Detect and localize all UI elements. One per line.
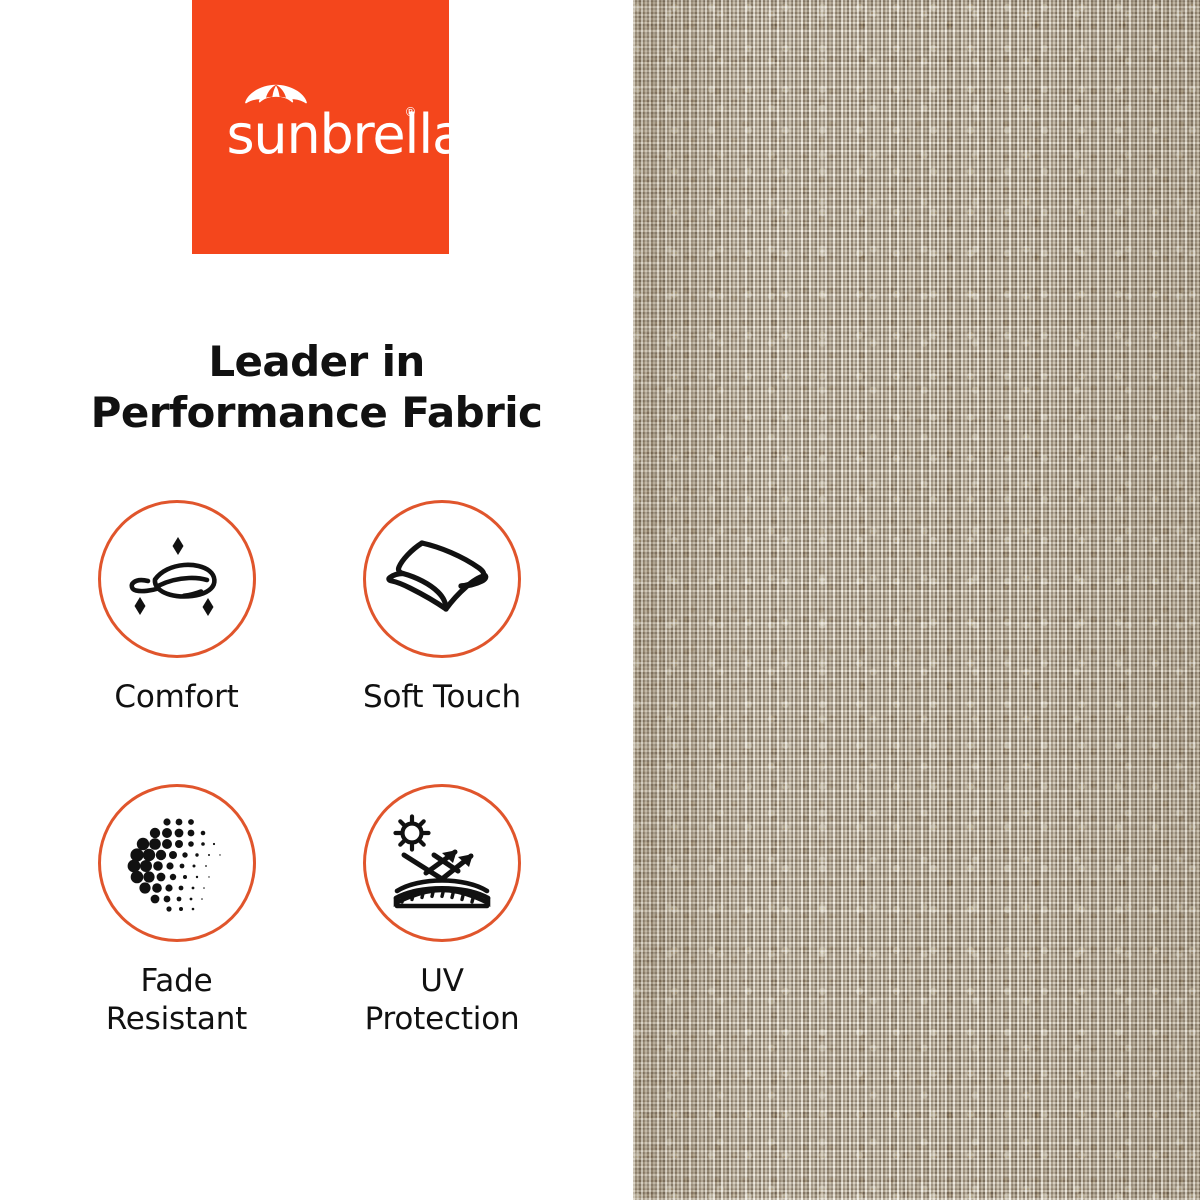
row-spacer — [60, 716, 633, 784]
halftone-dots-icon — [125, 811, 229, 915]
page-title: Leader in Performance Fabric — [0, 336, 633, 438]
info-panel: sunbrella ® Leader in Performance Fabric — [0, 0, 633, 1200]
fabric-swatch-image — [633, 0, 1200, 1200]
feature-label-uv-protection: UV Protection — [365, 962, 520, 1038]
feature-label-soft-touch: Soft Touch — [363, 678, 521, 716]
headline-line-2: Performance Fabric — [0, 387, 633, 438]
product-feature-graphic: sunbrella ® Leader in Performance Fabric — [0, 0, 1200, 1200]
sun-reflect-fabric-icon — [387, 813, 497, 913]
feature-uv-protection: UV Protection — [293, 784, 591, 1038]
feature-row-1: Comfort — [60, 500, 633, 716]
uv-ray-arrows — [404, 852, 471, 879]
brand-wordmark: sunbrella — [227, 100, 415, 170]
feature-comfort: Comfort — [60, 500, 293, 716]
feature-grid: Comfort — [60, 500, 633, 1038]
feature-label-fade-resistant: Fade Resistant — [106, 962, 247, 1038]
uv-protection-icon-circle — [363, 784, 521, 942]
feature-fade-resistant: Fade Resistant — [60, 784, 293, 1038]
feature-soft-touch: Soft Touch — [293, 500, 591, 716]
comfort-icon-circle — [98, 500, 256, 658]
sunbrella-logo: sunbrella ® — [227, 84, 415, 170]
folded-fabric-icon — [386, 529, 498, 629]
soft-touch-icon-circle — [363, 500, 521, 658]
fabric-layers — [396, 881, 488, 907]
fabric-shading-overlay — [633, 0, 1200, 1200]
feather-sparkle-icon — [122, 531, 232, 627]
sun-glyph — [396, 817, 429, 850]
feature-row-2: Fade Resistant — [60, 784, 633, 1038]
brand-logo-block: sunbrella ® — [192, 0, 449, 254]
fade-resistant-icon-circle — [98, 784, 256, 942]
headline-line-1: Leader in — [0, 336, 633, 387]
registered-trademark-symbol: ® — [405, 106, 417, 118]
feature-label-comfort: Comfort — [114, 678, 238, 716]
